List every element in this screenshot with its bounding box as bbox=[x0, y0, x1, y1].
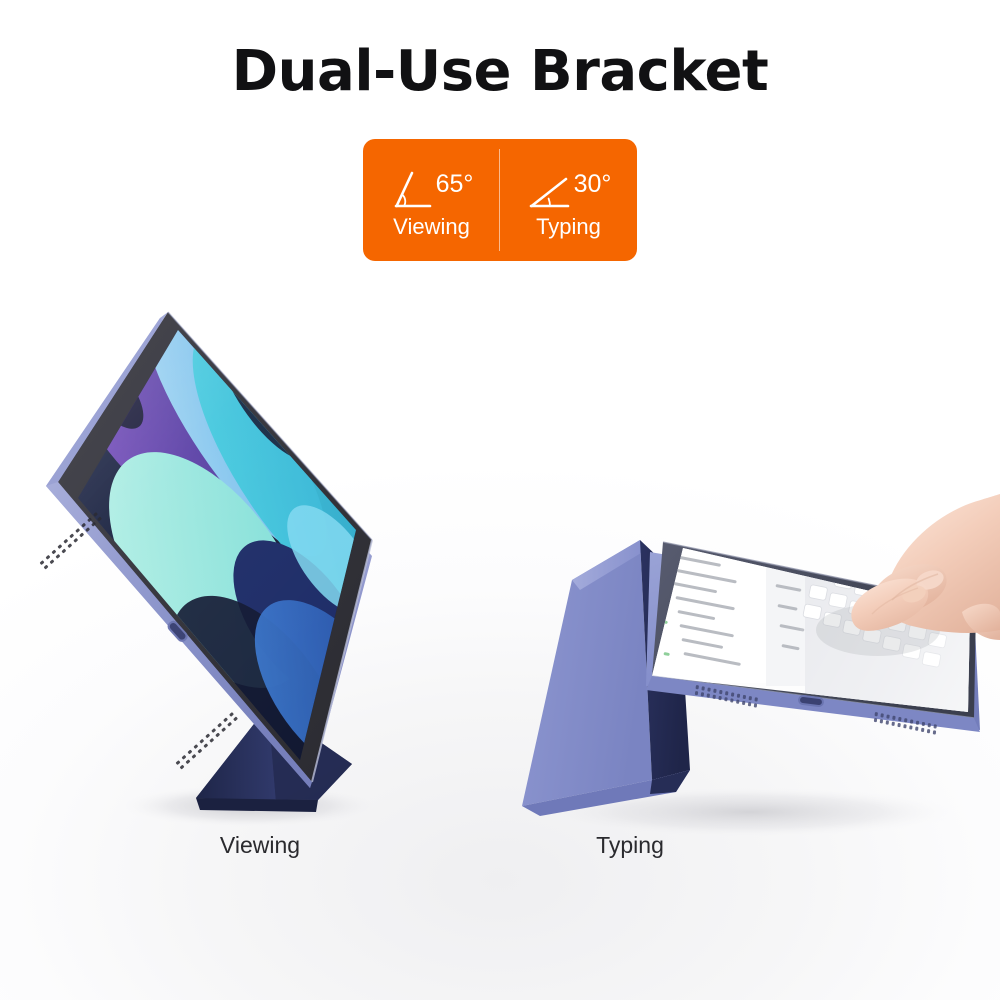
caption-typing: Typing bbox=[520, 832, 740, 858]
badge-row-typing: 30° bbox=[526, 166, 612, 214]
scene-viewing bbox=[0, 0, 470, 880]
badge-angle-typing: 30° bbox=[574, 172, 612, 197]
angle-30-icon bbox=[526, 168, 572, 212]
caption-viewing: Viewing bbox=[150, 832, 370, 858]
typing-hand bbox=[816, 494, 1000, 656]
scene-typing bbox=[500, 480, 1000, 860]
product-image-canvas: Dual-Use Bracket 65° Viewing bbox=[0, 0, 1000, 1000]
badge-panel-typing: 30° Typing bbox=[500, 139, 637, 261]
badge-label-typing: Typing bbox=[536, 215, 601, 239]
